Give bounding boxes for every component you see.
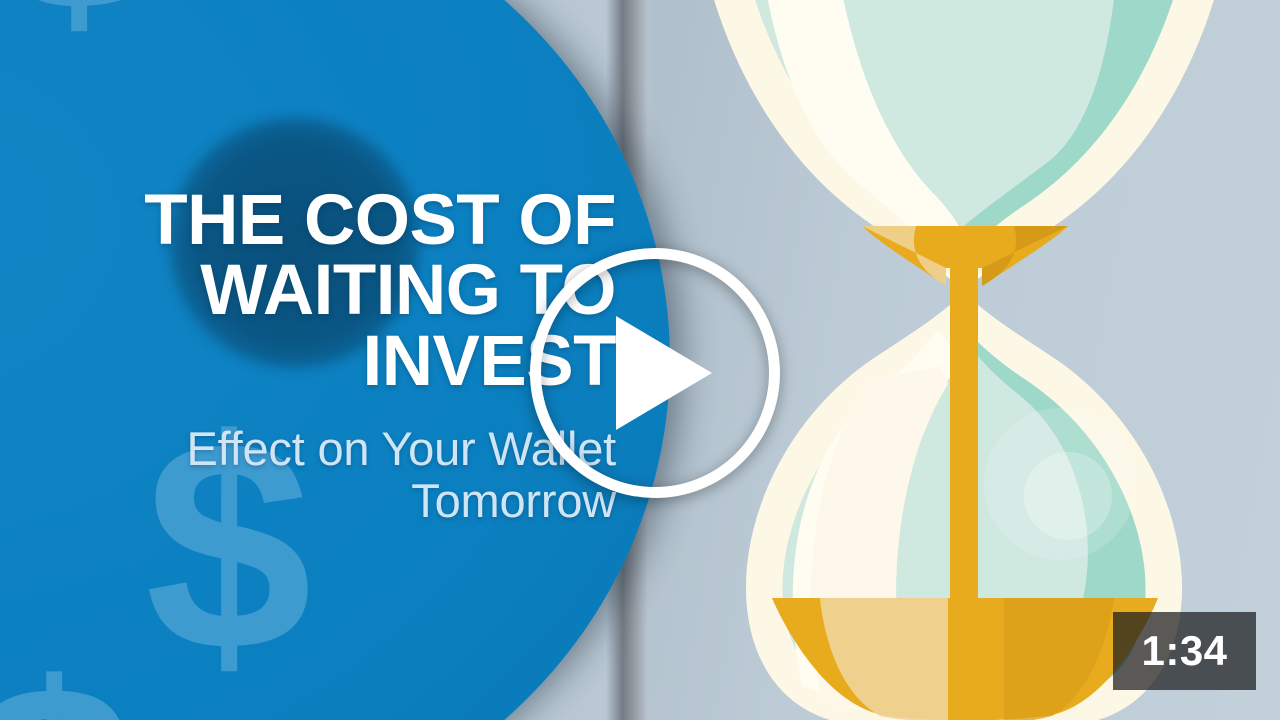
dollar-watermark-icon: $ (145, 425, 312, 665)
hourglass-reflection-small (1024, 452, 1112, 540)
video-thumbnail[interactable]: $ $ $ $ THE COST OF WAITING TO INVEST Ef… (0, 0, 1280, 720)
play-button[interactable] (530, 248, 780, 498)
play-button-shadow (170, 118, 420, 368)
play-icon (616, 316, 712, 430)
duration-badge: 1:34 (1113, 612, 1256, 690)
dollar-watermark-icon: $ (0, 0, 162, 25)
duration-text: 1:34 (1141, 627, 1227, 675)
dollar-watermark-icon: $ (0, 670, 137, 720)
